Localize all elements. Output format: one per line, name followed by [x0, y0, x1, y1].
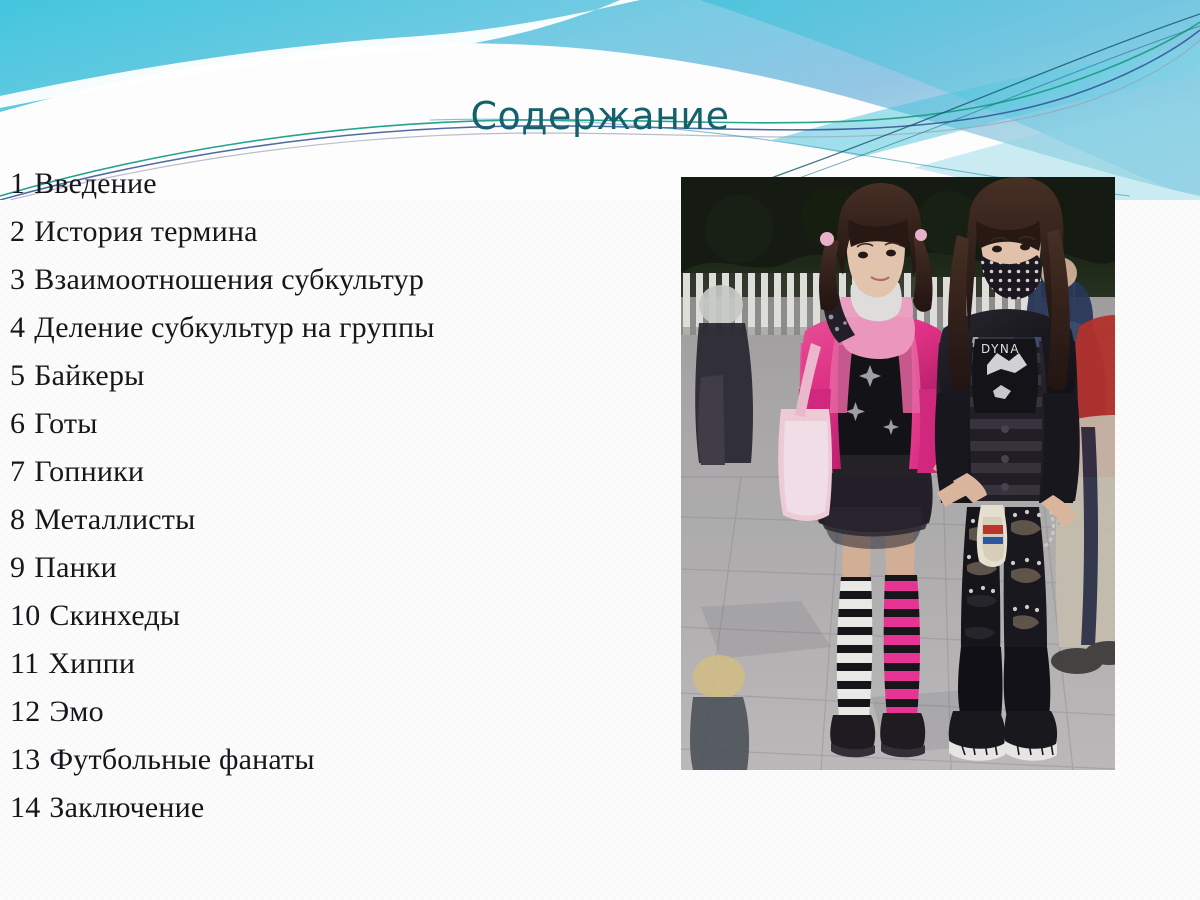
list-item[interactable]: 14Заключение: [10, 784, 650, 832]
list-item-number: 7: [10, 455, 25, 488]
contents-list: 1Введение 2История термина 3Взаимоотноше…: [10, 160, 650, 832]
list-item[interactable]: 6Готы: [10, 400, 650, 448]
list-item-number: 13: [10, 743, 40, 776]
list-item[interactable]: 8Металлисты: [10, 496, 650, 544]
list-item[interactable]: 9Панки: [10, 544, 650, 592]
list-item-label: Панки: [34, 551, 117, 584]
list-item[interactable]: 10Скинхеды: [10, 592, 650, 640]
list-item-label: Футбольные фанаты: [49, 743, 314, 776]
list-item-number: 1: [10, 167, 25, 200]
slide-photo: DYNA: [681, 177, 1115, 770]
list-item[interactable]: 4Деление субкультур на группы: [10, 304, 650, 352]
list-item[interactable]: 5Байкеры: [10, 352, 650, 400]
list-item-number: 12: [10, 695, 40, 728]
list-item-number: 6: [10, 407, 25, 440]
presentation-slide: Содержание 1Введение 2История термина 3В…: [0, 0, 1200, 900]
list-item-label: Байкеры: [34, 359, 144, 392]
list-item[interactable]: 2История термина: [10, 208, 650, 256]
list-item-label: История термина: [34, 215, 257, 248]
list-item-label: Хиппи: [48, 647, 135, 680]
page-title: Содержание: [0, 96, 1200, 138]
list-item-number: 2: [10, 215, 25, 248]
list-item[interactable]: 11Хиппи: [10, 640, 650, 688]
list-item-label: Введение: [34, 167, 157, 200]
list-item-number: 14: [10, 791, 40, 824]
list-item-number: 8: [10, 503, 25, 536]
list-item-label: Заключение: [49, 791, 204, 824]
list-item-label: Эмо: [49, 695, 103, 728]
list-item-number: 4: [10, 311, 25, 344]
list-item[interactable]: 12Эмо: [10, 688, 650, 736]
list-item-label: Деление субкультур на группы: [34, 311, 434, 344]
list-item-number: 3: [10, 263, 25, 296]
list-item[interactable]: 13Футбольные фанаты: [10, 736, 650, 784]
list-item[interactable]: 7Гопники: [10, 448, 650, 496]
list-item-label: Скинхеды: [49, 599, 180, 632]
list-item[interactable]: 3Взаимоотношения субкультур: [10, 256, 650, 304]
list-item-number: 9: [10, 551, 25, 584]
list-item-number: 11: [10, 647, 39, 680]
list-item-number: 5: [10, 359, 25, 392]
list-item[interactable]: 1Введение: [10, 160, 650, 208]
list-item-number: 10: [10, 599, 40, 632]
list-item-label: Металлисты: [34, 503, 195, 536]
list-item-label: Гопники: [34, 455, 144, 488]
list-item-label: Взаимоотношения субкультур: [34, 263, 424, 296]
list-item-label: Готы: [34, 407, 97, 440]
